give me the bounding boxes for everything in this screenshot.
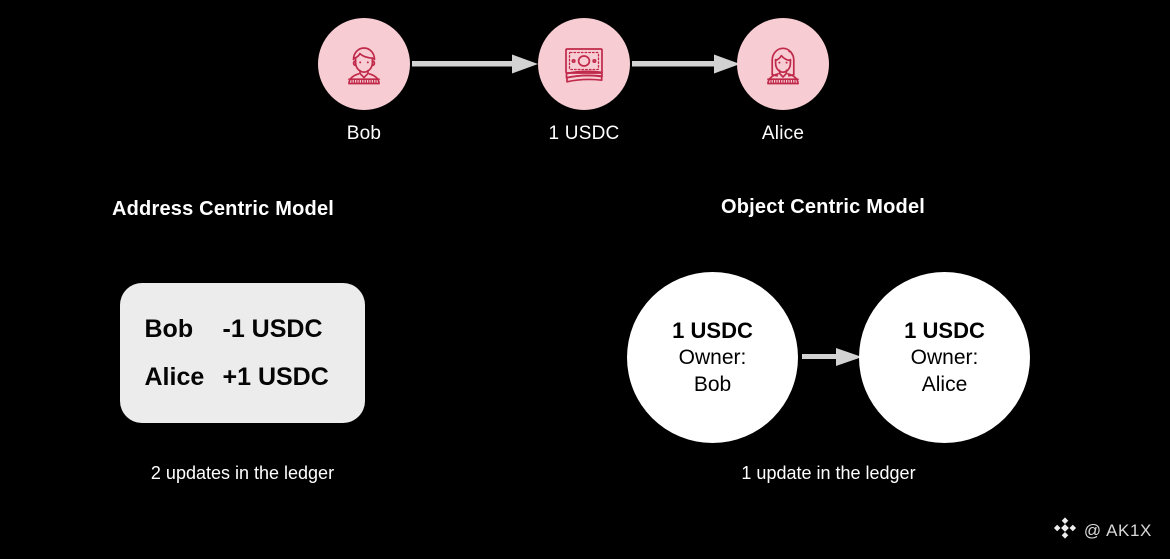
recipient-label: Alice: [737, 123, 829, 145]
ledger-row-name: Alice: [145, 362, 223, 392]
ledger-box: Bob -1 USDC Alice +1 USDC: [120, 283, 365, 423]
object-model-title: Object Centric Model: [721, 196, 925, 219]
ledger-row-amount: -1 USDC: [223, 314, 341, 344]
flow-node-recipient: Alice: [737, 18, 829, 145]
object-owner-label: Owner:: [911, 344, 979, 371]
object-circle-after: 1 USDC Owner: Alice: [859, 272, 1030, 443]
recipient-avatar-circle: [737, 18, 829, 110]
flow-node-asset: 1 USDC: [538, 18, 630, 145]
banknote-money-icon: [556, 36, 612, 92]
flow-node-sender: Bob: [318, 18, 410, 145]
arrow-right-icon: [412, 52, 538, 76]
ledger-row: Alice +1 USDC: [145, 362, 341, 392]
object-circle-before: 1 USDC Owner: Bob: [627, 272, 798, 443]
object-owner-label: Owner:: [679, 344, 747, 371]
address-model-title: Address Centric Model: [112, 198, 334, 221]
arrow-right-icon: [632, 52, 740, 76]
diagram-canvas: Bob: [0, 0, 1170, 559]
watermark-handle: @ AK1X: [1084, 521, 1152, 541]
asset-icon-circle: [538, 18, 630, 110]
object-amount: 1 USDC: [672, 317, 753, 344]
sender-avatar-circle: [318, 18, 410, 110]
ledger-row-amount: +1 USDC: [223, 362, 341, 392]
arrow-right-icon: [802, 346, 862, 368]
object-amount: 1 USDC: [904, 317, 985, 344]
male-avatar-icon: [337, 37, 391, 91]
arrow-asset-to-recipient: [632, 52, 740, 76]
watermark: @ AK1X: [1053, 516, 1152, 545]
ledger-row: Bob -1 USDC: [145, 314, 341, 344]
sender-label: Bob: [318, 123, 410, 145]
binance-diamond-logo-icon: [1053, 516, 1077, 545]
asset-label: 1 USDC: [538, 123, 630, 145]
object-owner-name: Bob: [694, 371, 731, 398]
arrow-object-transfer: [802, 346, 862, 368]
ledger-row-name: Bob: [145, 314, 223, 344]
object-owner-name: Alice: [922, 371, 968, 398]
object-model-caption: 1 update in the ledger: [706, 462, 951, 484]
female-avatar-icon: [756, 37, 810, 91]
address-model-caption: 2 updates in the ledger: [120, 462, 365, 484]
arrow-sender-to-asset: [412, 52, 538, 76]
